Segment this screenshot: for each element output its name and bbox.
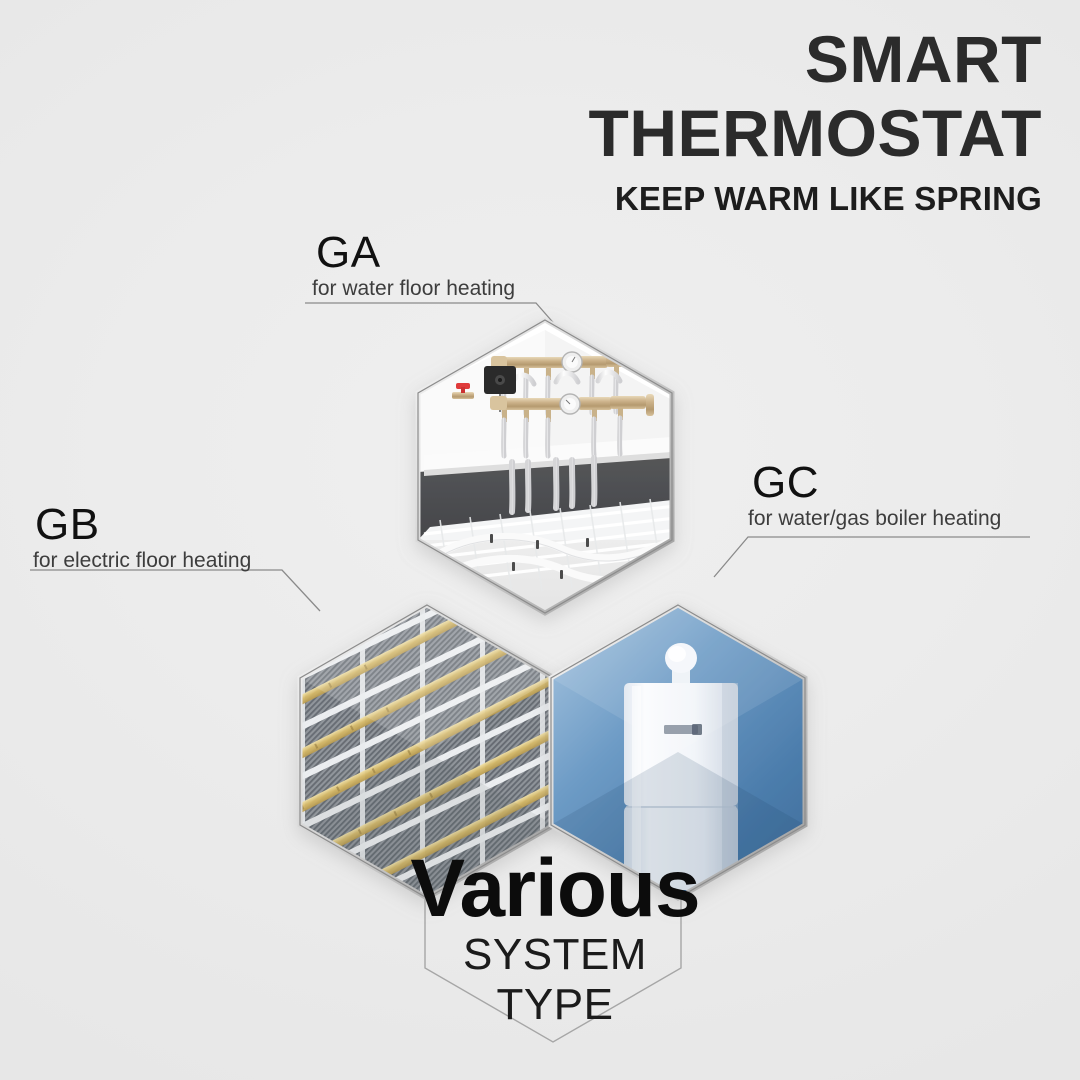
manifold-lower [490, 394, 654, 456]
callout-gb-desc: for electric floor heating [33, 548, 251, 574]
manifold-upper [491, 352, 640, 414]
headline-block: SMART THERMOSTAT KEEP WARM LIKE SPRING [422, 22, 1042, 218]
infographic-canvas: SMART THERMOSTAT KEEP WARM LIKE SPRING G… [0, 0, 1080, 1080]
drop-pipes [512, 458, 594, 512]
callout-gb-code: GB [35, 502, 251, 548]
callout-gc[interactable]: GC for water/gas boiler heating [748, 460, 1001, 532]
title-line-2: THERMOSTAT [422, 96, 1042, 170]
gauge-icon [560, 394, 580, 414]
gauge-icon [562, 352, 582, 372]
bottom-line-3: TYPE [400, 980, 710, 1030]
headline-subtitle: KEEP WARM LIKE SPRING [422, 180, 1042, 218]
bottom-headline: Various [400, 848, 710, 930]
callout-ga-desc: for water floor heating [312, 276, 515, 302]
leader-line-ga [305, 303, 572, 344]
pump-icon [484, 366, 516, 412]
callout-ga-code: GA [316, 230, 515, 276]
bottom-line-2: SYSTEM [400, 930, 710, 980]
bottom-caption: Various SYSTEM TYPE [400, 848, 710, 1030]
hexagon-ga[interactable] [410, 310, 682, 620]
valve-icon [452, 383, 474, 399]
mesh-grid-floor [418, 499, 676, 600]
callout-gb[interactable]: GB for electric floor heating [33, 502, 251, 574]
title-line-1: SMART [422, 22, 1042, 96]
callout-gc-code: GC [752, 460, 1001, 506]
leader-line-gb [30, 570, 320, 611]
callout-ga[interactable]: GA for water floor heating [312, 230, 515, 302]
leader-line-gc [714, 537, 1030, 577]
callout-gc-desc: for water/gas boiler heating [748, 506, 1001, 532]
